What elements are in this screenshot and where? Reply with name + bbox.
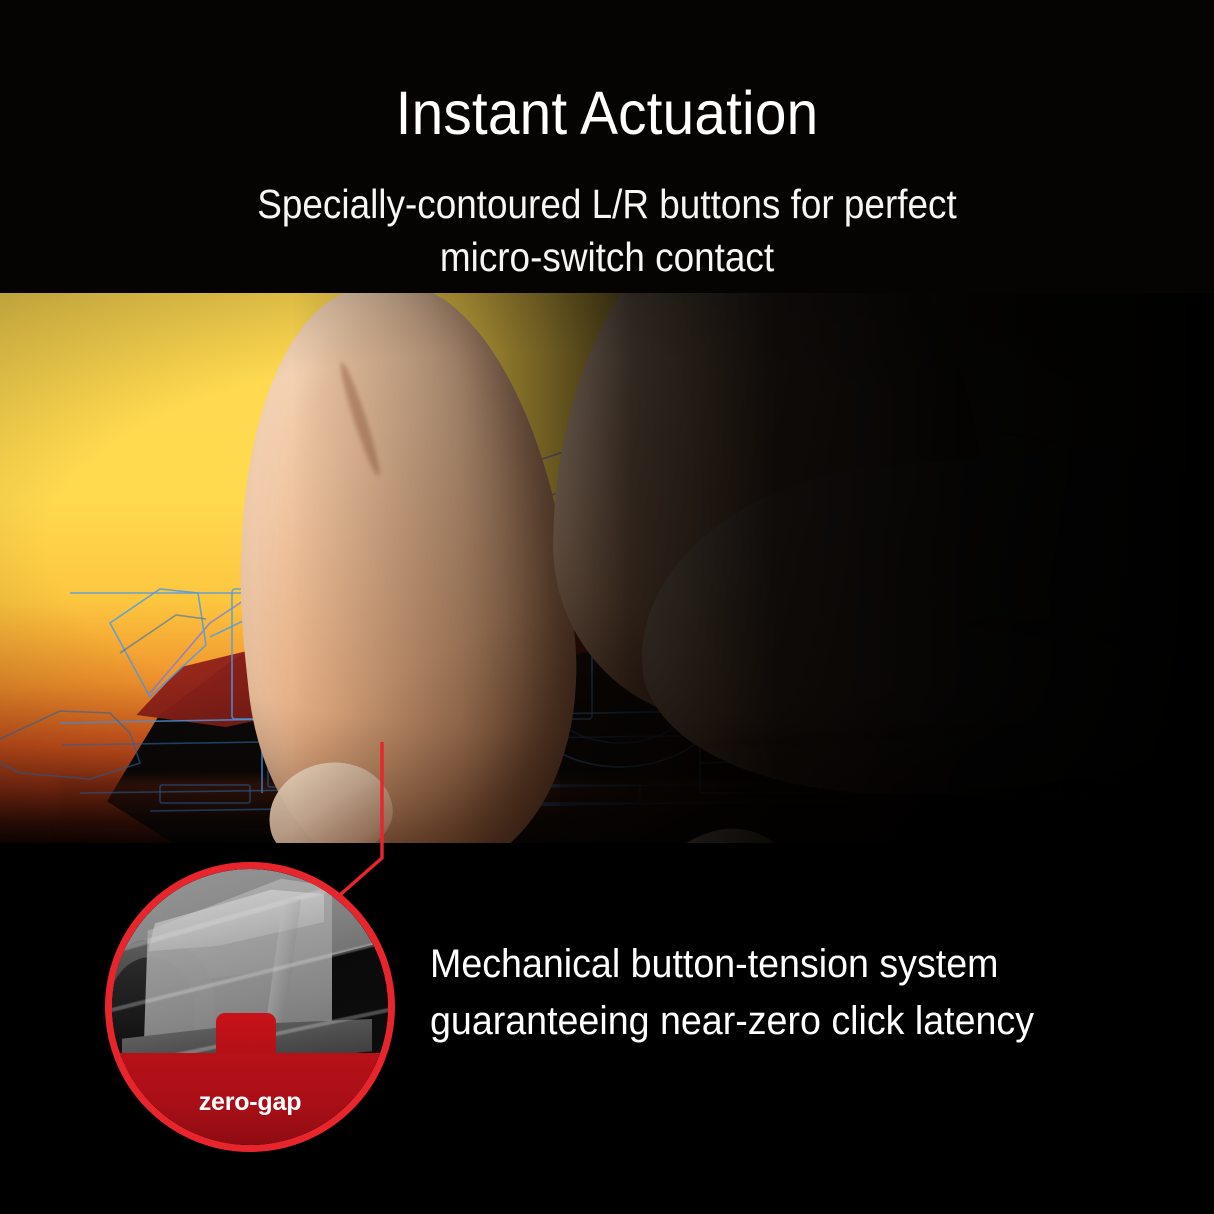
product-feature-slide: Instant Actuation Specially-contoured L/… bbox=[0, 0, 1214, 1214]
caption-line-2: guaranteeing near-zero click latency bbox=[430, 993, 1144, 1050]
callout-diagram: zero-gap bbox=[112, 869, 388, 1145]
subtitle-line-2: micro-switch contact bbox=[61, 231, 1154, 284]
subtitle-line-1: Specially-contoured L/R buttons for perf… bbox=[61, 178, 1154, 231]
page-subtitle: Specially-contoured L/R buttons for perf… bbox=[61, 178, 1154, 284]
header-block: Instant Actuation Specially-contoured L/… bbox=[0, 0, 1214, 293]
feature-caption: Mechanical button-tension system guarant… bbox=[430, 936, 1144, 1050]
callout-ring: zero-gap bbox=[105, 862, 395, 1152]
product-photo bbox=[0, 293, 1214, 843]
callout-label-text: zero-gap bbox=[112, 1088, 388, 1117]
page-title: Instant Actuation bbox=[42, 78, 1171, 148]
zero-gap-callout: zero-gap bbox=[105, 862, 395, 1152]
photo-vignette bbox=[0, 293, 1214, 843]
caption-line-1: Mechanical button-tension system bbox=[430, 936, 1144, 993]
